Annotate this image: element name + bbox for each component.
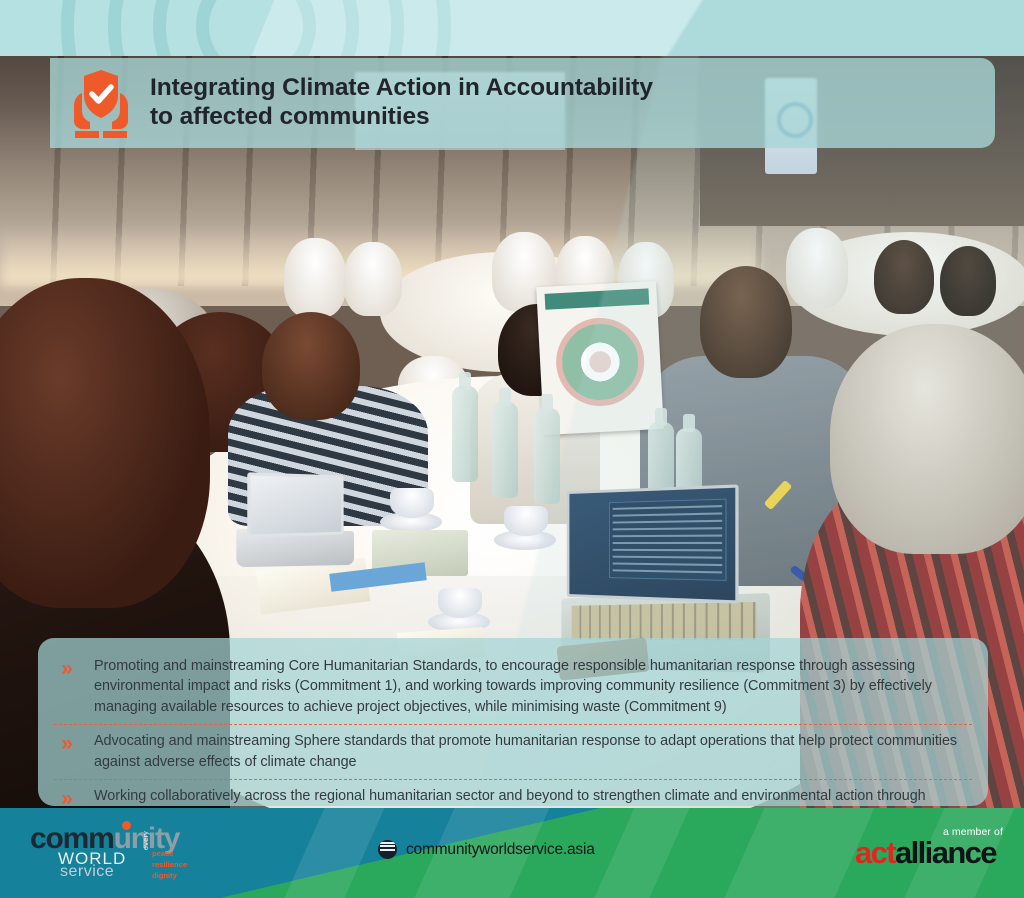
photo-chair — [284, 238, 346, 318]
act-alliance-wordmark-act: act — [855, 835, 895, 870]
page-title-line-2: to affected communities — [150, 103, 653, 132]
cws-logo-dot — [122, 821, 131, 830]
cws-tagline: peace resilience dignity — [152, 849, 187, 881]
photo-chair — [344, 242, 402, 316]
cws-tagline-line-2: resilience — [152, 860, 187, 871]
double-chevron-right-icon: » — [54, 658, 80, 679]
list-item-text: Promoting and mainstreaming Core Humanit… — [94, 656, 972, 717]
photo-teacup — [390, 488, 434, 518]
double-chevron-right-icon: » — [54, 733, 80, 754]
list-item-text: Advocating and mainstreaming Sphere stan… — [94, 731, 972, 772]
poster-circular-diagram — [554, 316, 646, 408]
header-banner: Integrating Climate Action in Accountabi… — [50, 58, 995, 148]
website-url: communityworldservice.asia — [406, 841, 595, 859]
act-alliance-logo: a member of actalliance — [855, 826, 1005, 876]
photo-water-bottle — [452, 386, 478, 482]
photo-participant-speaking-hair — [700, 266, 792, 378]
cws-wordmark-every: every — [143, 831, 150, 850]
page-title-line-1: Integrating Climate Action in Accountabi… — [150, 74, 653, 103]
globe-icon — [378, 840, 397, 859]
list-item: » Advocating and mainstreaming Sphere st… — [54, 724, 972, 779]
photo-teacup — [438, 588, 482, 618]
act-alliance-wordmark-alliance: alliance — [895, 835, 996, 870]
poster-canvas: Integrating Climate Action in Accountabi… — [0, 0, 1024, 898]
top-decorative-band — [0, 0, 1024, 56]
photo-participant-striped-top-head — [262, 312, 360, 420]
list-item: » Promoting and mainstreaming Core Human… — [54, 650, 972, 724]
cws-tagline-line-1: peace — [152, 849, 187, 860]
photo-laptop-keys — [572, 602, 757, 641]
photo-foreground-person-right-head — [830, 324, 1024, 554]
photo-secondary-laptop-screen — [247, 472, 343, 537]
double-chevron-right-icon: » — [54, 788, 80, 809]
photo-chair — [786, 228, 848, 308]
key-points-panel: » Promoting and mainstreaming Core Human… — [38, 638, 988, 806]
photo-laptop-text-lines — [613, 505, 722, 579]
photo-water-bottle — [492, 402, 518, 498]
photo-laptop-screen — [567, 484, 739, 603]
photo-teacup — [504, 506, 548, 536]
shield-check-in-hands-icon — [68, 67, 134, 139]
cws-wordmark-service: service — [60, 864, 114, 880]
community-world-service-logo: community WORLD service every peace resi… — [30, 824, 210, 880]
poster-title-band — [545, 288, 650, 309]
photo-water-bottle — [534, 408, 560, 504]
band-sheen — [210, 0, 1024, 56]
act-alliance-wordmark: actalliance — [855, 837, 996, 868]
page-title: Integrating Climate Action in Accountabi… — [150, 74, 653, 132]
photo-background-person — [940, 246, 996, 316]
photo-background-person — [874, 240, 934, 314]
website-link[interactable]: communityworldservice.asia — [378, 840, 595, 859]
cws-tagline-line-3: dignity — [152, 871, 187, 882]
